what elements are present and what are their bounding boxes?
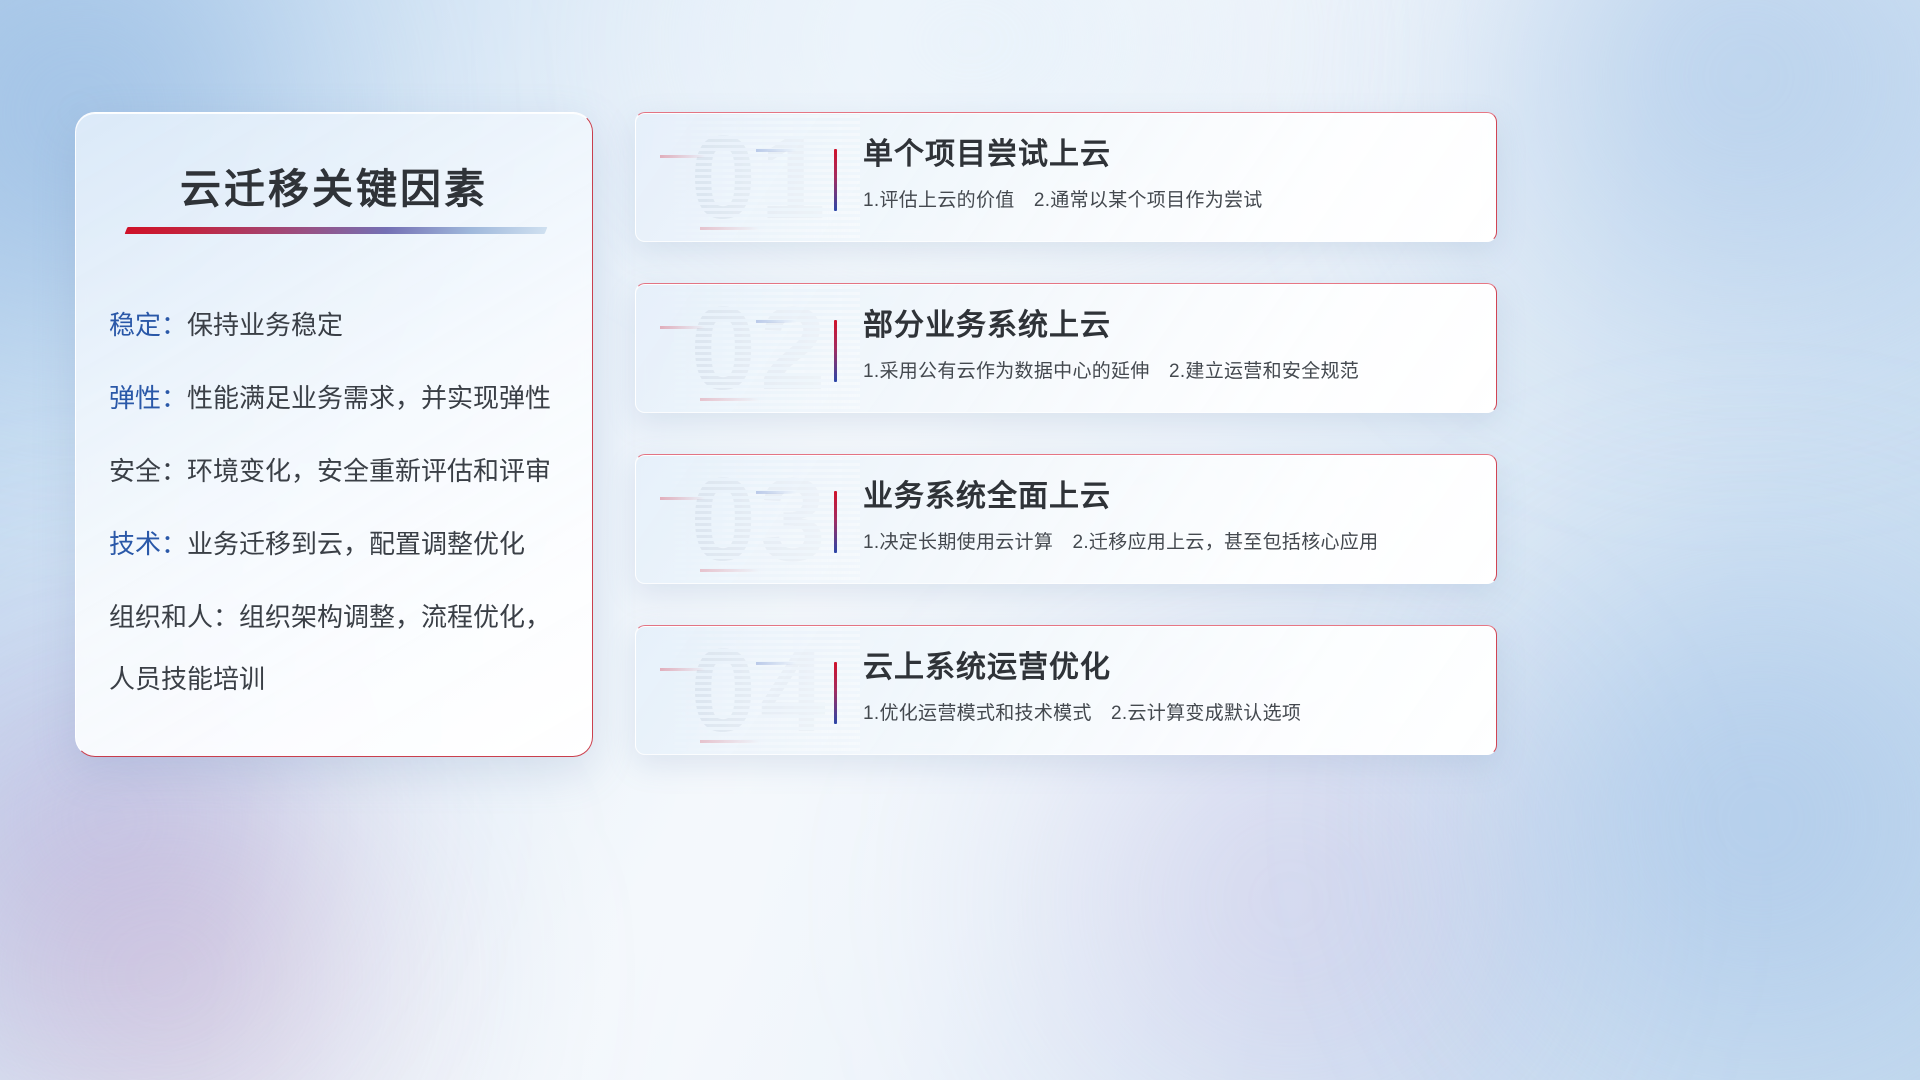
step-text-block: 部分业务系统上云1.采用公有云作为数据中心的延伸 2.建立运营和安全规范	[863, 306, 1478, 383]
accent-bar	[834, 491, 837, 553]
step-text-block: 云上系统运营优化1.优化运营模式和技术模式 2.云计算变成默认选项	[863, 648, 1478, 725]
step-number-ghost: 01	[660, 112, 860, 242]
key-factor-label: 组织和人：	[109, 602, 239, 632]
step-text-block: 单个项目尝试上云1.评估上云的价值 2.通常以某个项目作为尝试	[863, 135, 1478, 212]
key-factor-label: 弹性：	[109, 383, 187, 413]
key-factor-line: 安全：环境变化，安全重新评估和评审	[109, 454, 564, 490]
accent-bar	[834, 662, 837, 724]
key-factor-label: 稳定：	[109, 310, 187, 340]
step-subtitle: 1.决定长期使用云计算 2.迁移应用上云，甚至包括核心应用	[863, 527, 1478, 554]
accent-bar	[834, 149, 837, 211]
step-card[interactable]: 02部分业务系统上云1.采用公有云作为数据中心的延伸 2.建立运营和安全规范	[635, 283, 1497, 413]
step-card[interactable]: 04云上系统运营优化1.优化运营模式和技术模式 2.云计算变成默认选项	[635, 625, 1497, 755]
step-number-ghost: 03	[660, 454, 860, 584]
cloud-migration-steps: 01单个项目尝试上云1.评估上云的价值 2.通常以某个项目作为尝试02部分业务系…	[635, 112, 1497, 755]
key-factor-text: 业务迁移到云，配置调整优化	[187, 529, 525, 559]
step-text-block: 业务系统全面上云1.决定长期使用云计算 2.迁移应用上云，甚至包括核心应用	[863, 477, 1478, 554]
key-factors-panel: 云迁移关键因素 稳定：保持业务稳定弹性：性能满足业务需求，并实现弹性安全：环境变…	[75, 112, 593, 757]
key-factors-list: 稳定：保持业务稳定弹性：性能满足业务需求，并实现弹性安全：环境变化，安全重新评估…	[109, 308, 564, 698]
panel-title: 云迁移关键因素	[76, 155, 592, 215]
accent-bar	[834, 320, 837, 382]
key-factor-line: 弹性：性能满足业务需求，并实现弹性	[109, 381, 564, 417]
key-factor-text: 保持业务稳定	[187, 310, 343, 340]
step-subtitle: 1.评估上云的价值 2.通常以某个项目作为尝试	[863, 185, 1478, 212]
step-title: 业务系统全面上云	[863, 477, 1478, 516]
step-number-ghost: 02	[660, 283, 860, 413]
key-factor-text: 环境变化，安全重新评估和评审	[187, 456, 551, 486]
step-number-ghost: 04	[660, 625, 860, 755]
key-factor-label: 技术：	[109, 529, 187, 559]
key-factor-text: 性能满足业务需求，并实现弹性	[187, 383, 551, 413]
step-title: 部分业务系统上云	[863, 306, 1478, 345]
step-card[interactable]: 01单个项目尝试上云1.评估上云的价值 2.通常以某个项目作为尝试	[635, 112, 1497, 242]
key-factor-label: 安全：	[109, 456, 187, 486]
key-factor-line: 技术：业务迁移到云，配置调整优化	[109, 527, 564, 563]
step-title: 云上系统运营优化	[863, 648, 1478, 687]
key-factor-text: 组织架构调整，流程优化，	[239, 602, 551, 632]
step-card[interactable]: 03业务系统全面上云1.决定长期使用云计算 2.迁移应用上云，甚至包括核心应用	[635, 454, 1497, 584]
key-factor-text: 人员技能培训	[109, 664, 265, 694]
step-subtitle: 1.优化运营模式和技术模式 2.云计算变成默认选项	[863, 698, 1478, 725]
title-underline-accent	[125, 227, 548, 234]
key-factor-line: 人员技能培训	[109, 662, 564, 698]
key-factor-line: 稳定：保持业务稳定	[109, 308, 564, 344]
step-subtitle: 1.采用公有云作为数据中心的延伸 2.建立运营和安全规范	[863, 356, 1478, 383]
key-factor-line: 组织和人：组织架构调整，流程优化，	[109, 600, 564, 636]
step-title: 单个项目尝试上云	[863, 135, 1478, 174]
